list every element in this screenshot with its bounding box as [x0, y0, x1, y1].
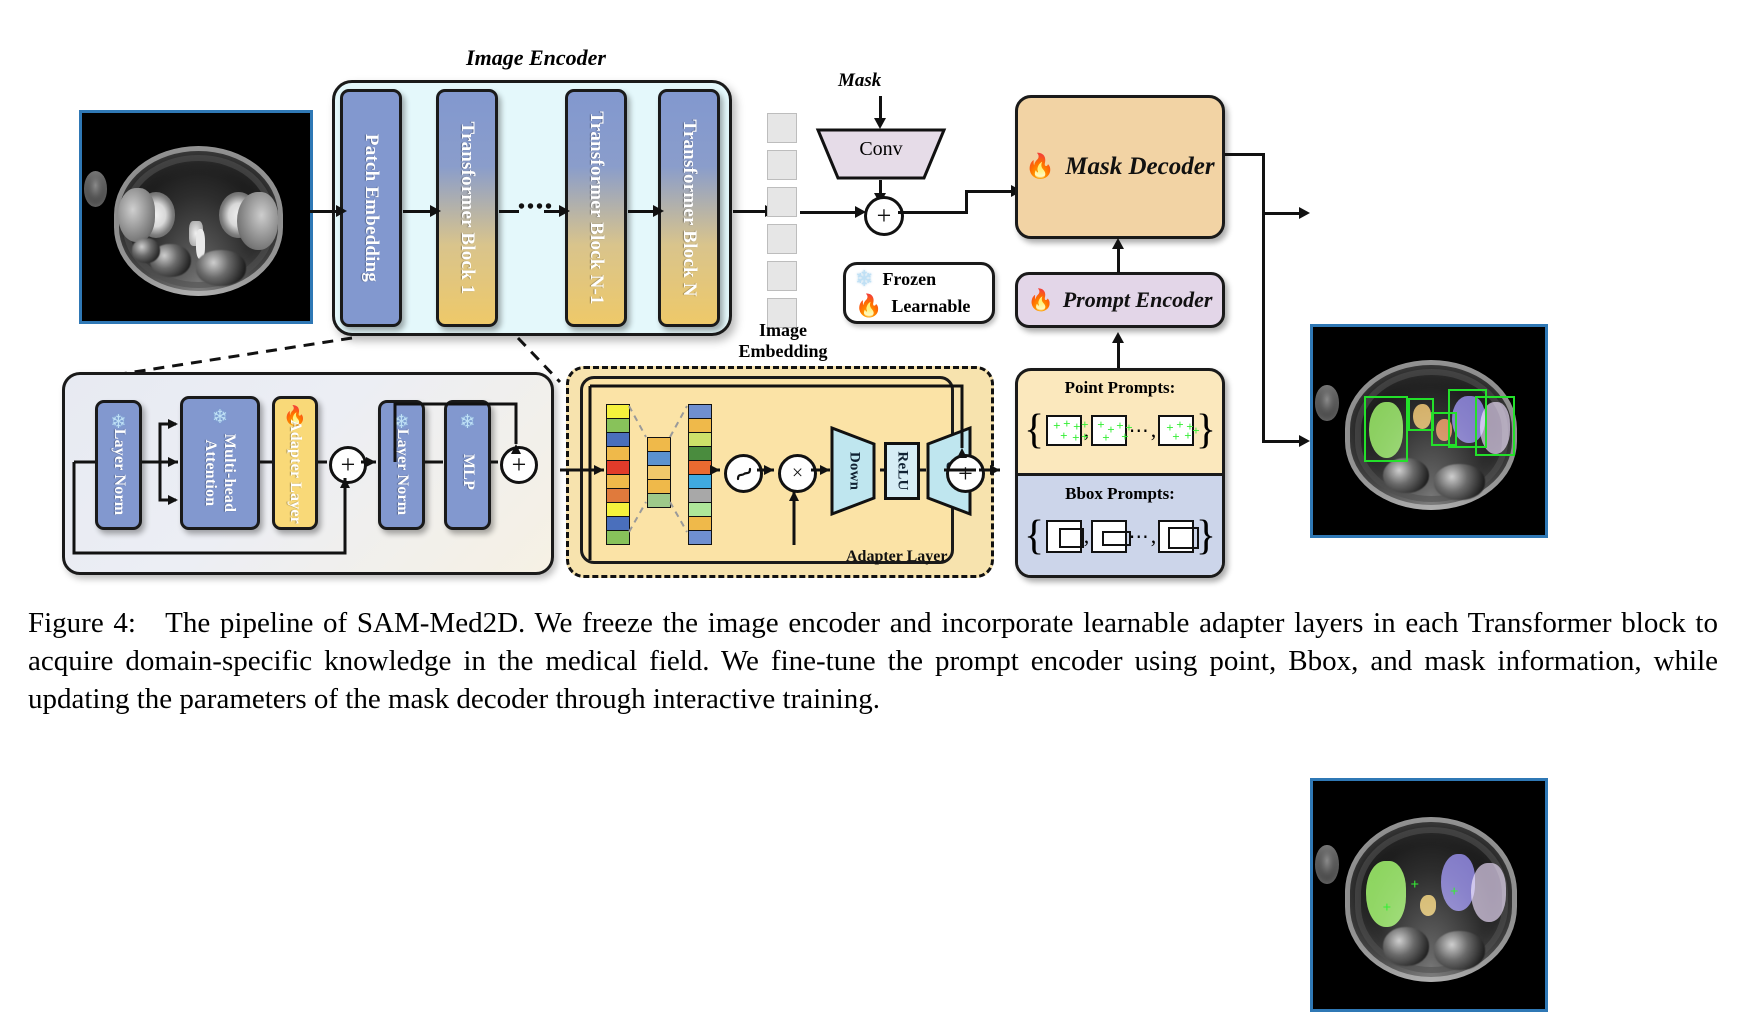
figure-caption: Figure 4: The pipeline of SAM-Med2D. We … [28, 604, 1718, 718]
adapter-wiring-paths [0, 0, 1746, 934]
caption-text: The pipeline of SAM-Med2D. We freeze the… [28, 607, 1718, 715]
caption-label: Figure 4: [28, 607, 136, 639]
bowel-region-2 [1434, 931, 1485, 970]
